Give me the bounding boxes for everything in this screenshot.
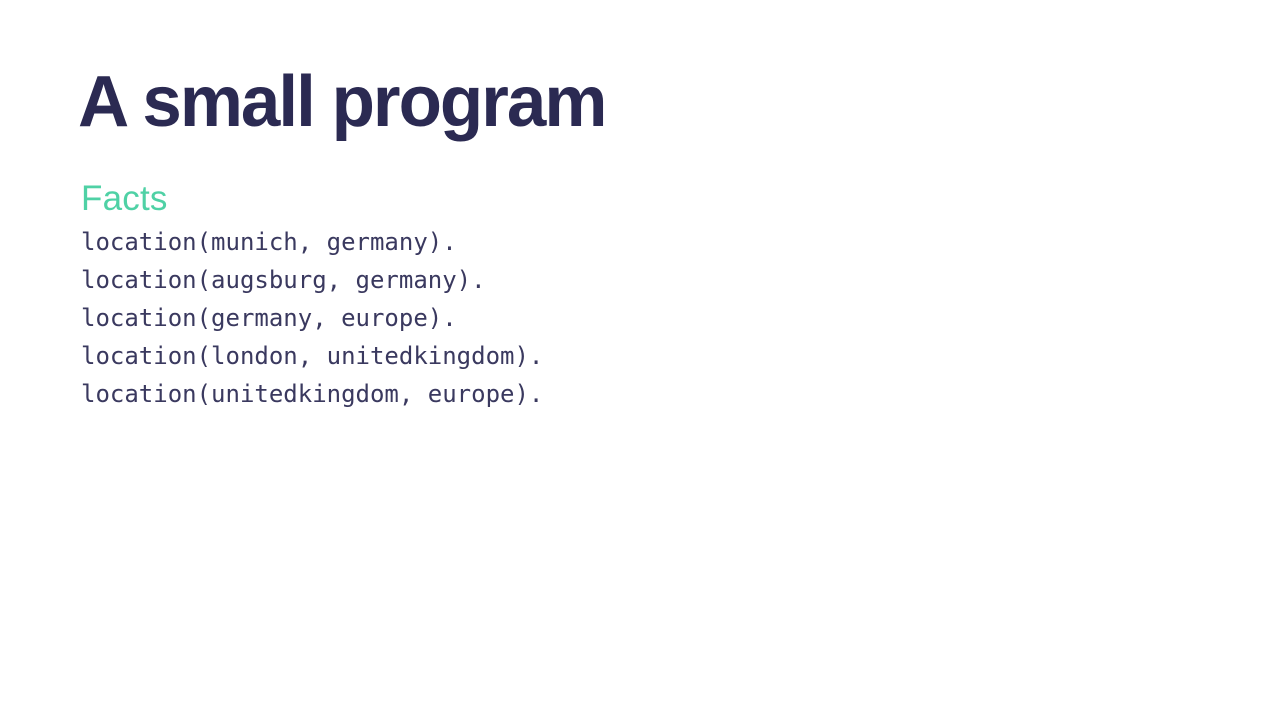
- code-line: location(germany, europe).: [81, 299, 1181, 337]
- facts-section: Facts location(munich, germany). locatio…: [81, 178, 1181, 413]
- slide-root: A small program Facts location(munich, g…: [0, 0, 1280, 720]
- facts-code-list: location(munich, germany). location(augs…: [81, 223, 1181, 413]
- section-heading-facts: Facts: [81, 178, 1181, 219]
- code-line: location(london, unitedkingdom).: [81, 337, 1181, 375]
- code-line: location(unitedkingdom, europe).: [81, 375, 1181, 413]
- page-title: A small program: [78, 62, 605, 143]
- code-line: location(augsburg, germany).: [81, 261, 1181, 299]
- code-line: location(munich, germany).: [81, 223, 1181, 261]
